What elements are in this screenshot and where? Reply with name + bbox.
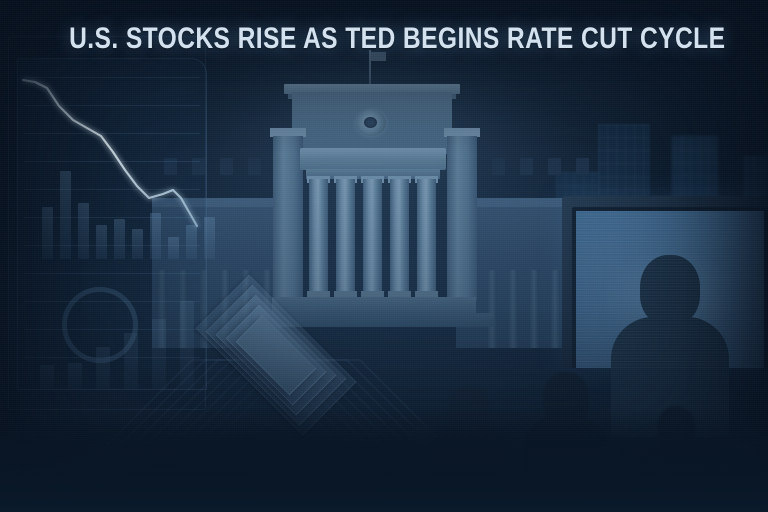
news-graphic-canvas: U.S. STOCKS RISE AS TED BEGINS RATE CUT … <box>0 0 768 512</box>
title-band <box>0 408 768 512</box>
headline-title: U.S. STOCKS RISE AS TED BEGINS RATE CUT … <box>69 22 699 56</box>
